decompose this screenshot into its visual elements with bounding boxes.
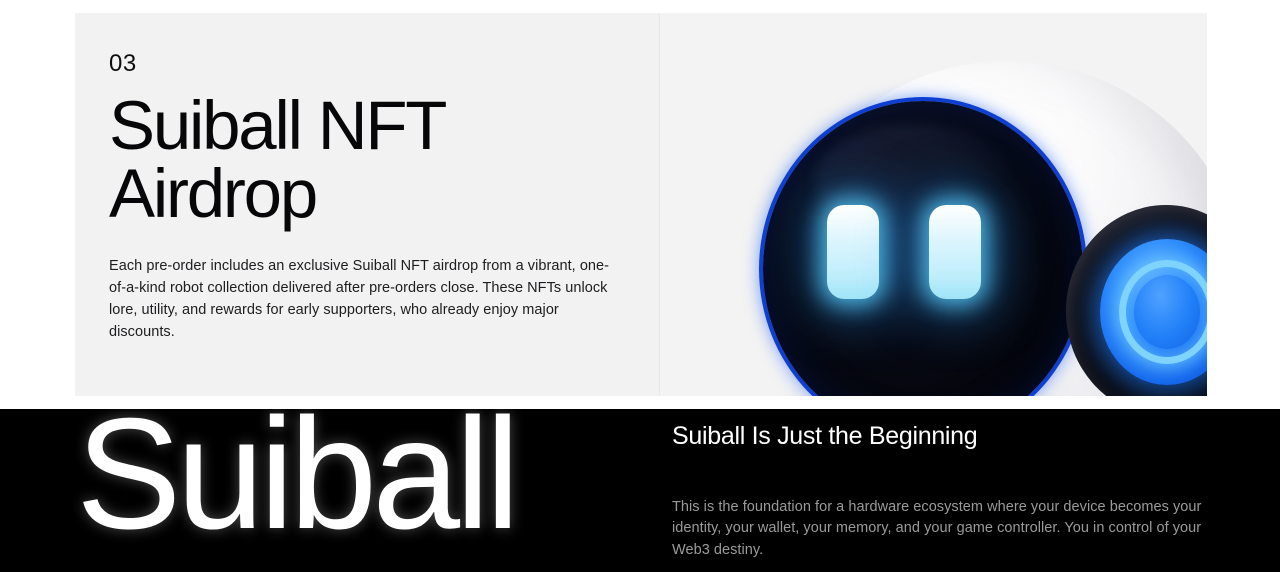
- brand-wordmark: Suiball: [76, 409, 515, 553]
- section-number: 03: [109, 52, 619, 76]
- footer-title: Suiball Is Just the Beginning: [672, 423, 1212, 451]
- feature-panel: 03 Suiball NFT Airdrop Each pre-order in…: [75, 13, 1207, 396]
- robot-side-button: [1100, 239, 1207, 385]
- feature-text-column: 03 Suiball NFT Airdrop Each pre-order in…: [75, 13, 660, 396]
- page-root: 03 Suiball NFT Airdrop Each pre-order in…: [0, 0, 1280, 572]
- robot-right-eye: [929, 205, 981, 299]
- feature-description: Each pre-order includes an exclusive Sui…: [109, 255, 614, 343]
- footer-band: Suiball Suiball Is Just the Beginning Th…: [0, 409, 1280, 572]
- robot-left-eye: [827, 205, 879, 299]
- robot-illustration: [660, 13, 1207, 396]
- feature-heading: Suiball NFT Airdrop: [109, 92, 549, 227]
- footer-text-column: Suiball Is Just the Beginning This is th…: [672, 423, 1212, 562]
- feature-image-column: [660, 13, 1207, 396]
- robot-side-button-core: [1134, 275, 1200, 349]
- footer-description: This is the foundation for a hardware ec…: [672, 497, 1212, 562]
